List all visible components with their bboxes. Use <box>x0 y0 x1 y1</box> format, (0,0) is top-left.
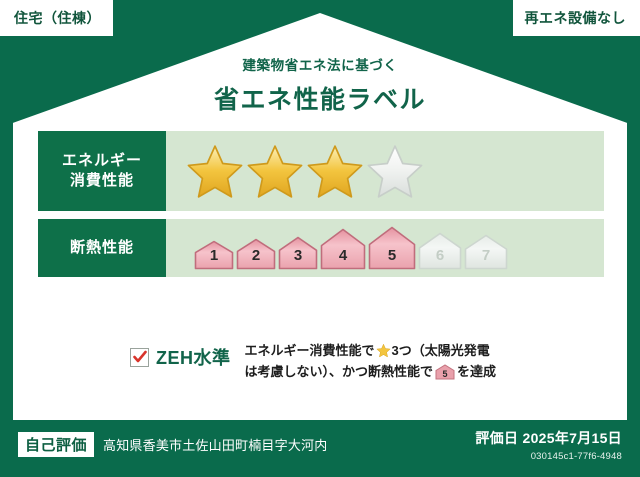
building-type-tag: 住宅（住棟） <box>0 0 113 36</box>
footer-right: 評価日 2025年7月15日 030145c1-77f6-4948 <box>475 428 622 462</box>
star-icon-empty <box>366 143 424 199</box>
property-address: 高知県香美市土佐山田町楠目字大河内 <box>103 435 327 454</box>
zeh-description: エネルギー消費性能で3つ（太陽光発電は考慮しない）、かつ断熱性能で5を達成 <box>245 340 497 387</box>
row-energy-performance: エネルギー 消費性能 <box>38 131 604 211</box>
page-title: 省エネ性能ラベル <box>0 80 640 116</box>
house-icon-inline: 5 <box>435 364 455 380</box>
performance-rows: エネルギー 消費性能 断熱性能 1234567 <box>38 131 604 285</box>
row-insulation-value: 1234567 <box>166 219 604 277</box>
insulation-grade-4: 4 <box>320 228 366 270</box>
row-insulation-label: 断熱性能 <box>38 219 166 277</box>
row-energy-label: エネルギー 消費性能 <box>38 131 166 211</box>
star-icon-filled <box>186 143 244 199</box>
title-block: 建築物省エネ法に基づく 省エネ性能ラベル <box>0 54 640 116</box>
star-icon-filled <box>246 143 304 199</box>
insulation-grade-1: 1 <box>194 240 234 270</box>
zeh-checkbox[interactable] <box>130 348 149 367</box>
zeh-desc-star-count: 3つ（太陽光発電 <box>392 343 490 358</box>
row-energy-value <box>166 131 604 211</box>
evaluation-date-label: 評価日 <box>475 430 518 446</box>
star-rating <box>186 143 424 199</box>
insulation-grade-number: 3 <box>278 247 318 264</box>
insulation-grade-number: 7 <box>464 247 508 264</box>
insulation-grade-3: 3 <box>278 236 318 270</box>
renewable-equipment-tag: 再エネ設備なし <box>513 0 640 36</box>
footer-left: 自己評価 高知県香美市土佐山田町楠目字大河内 <box>18 432 327 457</box>
self-evaluation-badge: 自己評価 <box>18 432 94 457</box>
star-icon-filled <box>306 143 364 199</box>
zeh-desc-part2: は考慮しない）、かつ断熱性能で <box>245 364 434 379</box>
insulation-grade-5: 5 <box>368 226 416 270</box>
evaluation-date-value: 2025年7月15日 <box>522 430 622 446</box>
insulation-grade-7: 7 <box>464 234 508 270</box>
row-energy-label-line2: 消費性能 <box>62 171 142 191</box>
insulation-grade-number: 6 <box>418 247 462 264</box>
star-icon-inline <box>376 343 391 358</box>
evaluation-date: 評価日 2025年7月15日 <box>475 428 622 448</box>
check-icon <box>132 349 148 365</box>
evaluation-id: 030145c1-77f6-4948 <box>475 451 622 462</box>
insulation-grade-number: 5 <box>368 247 416 264</box>
zeh-badge: ZEH水準 <box>130 344 231 370</box>
insulation-grade-number: 2 <box>236 247 276 264</box>
row-insulation-performance: 断熱性能 1234567 <box>38 219 604 277</box>
insulation-grade-scale: 1234567 <box>194 226 508 270</box>
zeh-desc-part1: エネルギー消費性能で <box>245 343 375 358</box>
zeh-desc-part3: を達成 <box>457 364 496 379</box>
row-energy-label-line1: エネルギー <box>62 151 142 171</box>
inline-house-value: 5 <box>443 369 448 379</box>
insulation-grade-2: 2 <box>236 238 276 270</box>
insulation-grade-number: 4 <box>320 247 366 264</box>
title-subtitle: 建築物省エネ法に基づく <box>0 54 640 74</box>
footer: 自己評価 高知県香美市土佐山田町楠目字大河内 評価日 2025年7月15日 03… <box>0 420 640 477</box>
zeh-standard-row: ZEH水準 エネルギー消費性能で3つ（太陽光発電は考慮しない）、かつ断熱性能で5… <box>130 340 496 387</box>
insulation-grade-number: 1 <box>194 247 234 264</box>
energy-performance-label: 住宅（住棟） 再エネ設備なし 建築物省エネ法に基づく 省エネ性能ラベル エネルギ… <box>0 0 640 477</box>
insulation-grade-6: 6 <box>418 232 462 270</box>
zeh-label: ZEH水準 <box>156 344 231 370</box>
inline-house-badge: 5 <box>435 364 455 386</box>
